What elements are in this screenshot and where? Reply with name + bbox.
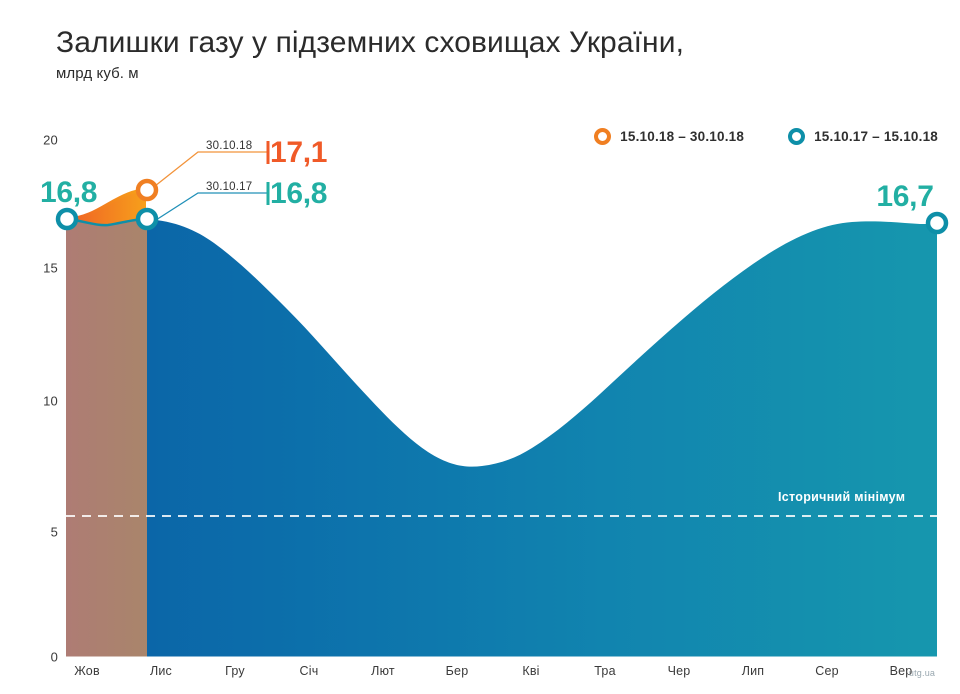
callout-date-previous: 30.10.17 [206,181,252,193]
legend-label-previous: 15.10.17 – 15.10.18 [814,129,938,144]
y-tick-10: 10 [12,394,58,409]
gas-reserves-area [147,219,937,657]
legend-label-current: 15.10.18 – 30.10.18 [620,129,744,144]
historic-minimum-label: Історичний мінімум [778,490,905,504]
ring-icon [788,128,805,145]
x-tick-lys: Лис [150,664,172,678]
marker-left-2017 [58,210,76,228]
y-tick-5: 5 [12,525,58,540]
x-tick-cher: Чер [668,664,691,678]
y-tick-15: 15 [12,261,58,276]
y-tick-20: 20 [12,133,58,148]
legend-item-current[interactable]: 15.10.18 – 30.10.18 [594,128,744,145]
x-tick-kvi: Кві [522,664,539,678]
y-tick-0: 0 [12,650,58,665]
x-tick-lyp: Лип [742,664,765,678]
x-tick-hru: Гру [225,664,245,678]
value-label-left: 16,8 [40,176,97,210]
ring-icon [594,128,611,145]
watermark: utg.ua [909,668,935,678]
x-tick-ber: Бер [446,664,469,678]
callout-date-current: 30.10.18 [206,140,252,152]
marker-right-end [928,214,946,232]
marker-2018-peak [138,181,156,199]
chart-plot-area [0,0,960,694]
y-axis: 20 15 10 5 0 [0,0,58,694]
x-tick-ser: Сер [815,664,839,678]
chart-legend: 15.10.18 – 30.10.18 15.10.17 – 15.10.18 [594,128,938,145]
x-tick-liut: Лют [371,664,395,678]
x-tick-tra: Тра [594,664,615,678]
callout-value-previous: 16,8 [270,177,327,211]
previous-period-band [66,219,147,657]
value-label-right: 16,7 [876,180,933,214]
callout-value-current: 17,1 [270,136,327,170]
x-tick-zhov: Жов [74,664,100,678]
x-axis: Жов Лис Гру Січ Лют Бер Кві Тра Чер Лип … [66,664,960,694]
x-tick-sich: Січ [300,664,319,678]
legend-item-previous[interactable]: 15.10.17 – 15.10.18 [788,128,938,145]
marker-2017-peak [138,210,156,228]
callout-leader-2017 [156,193,268,220]
